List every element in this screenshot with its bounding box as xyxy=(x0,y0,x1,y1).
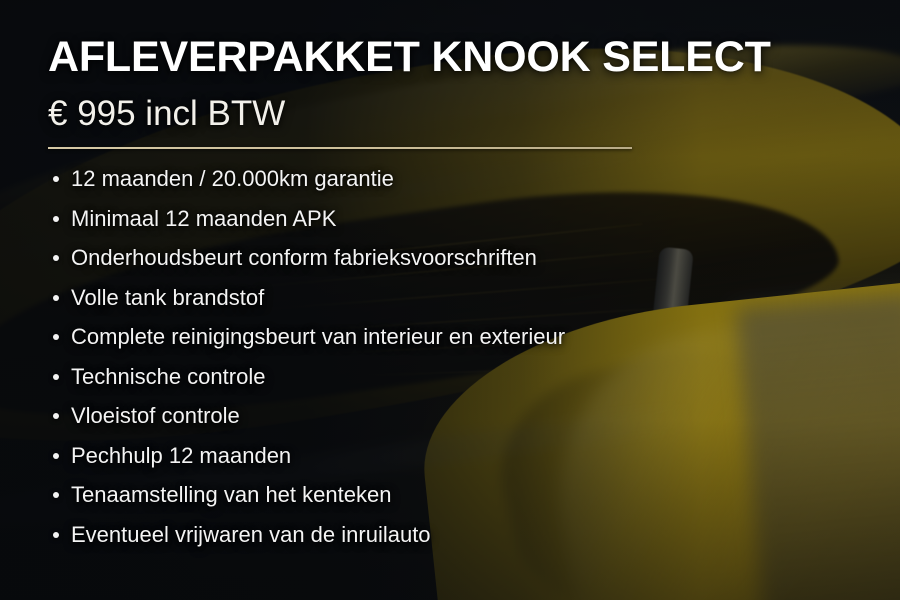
feature-list: 12 maanden / 20.000km garantie Minimaal … xyxy=(48,164,565,559)
bullet-dot-icon xyxy=(53,255,59,261)
bullet-dot-icon xyxy=(53,374,59,380)
list-item: Volle tank brandstof xyxy=(48,283,565,323)
price-label: € 995 incl BTW xyxy=(48,94,285,134)
list-item: Minimaal 12 maanden APK xyxy=(48,204,565,244)
list-item-label: Pechhulp 12 maanden xyxy=(71,443,291,468)
list-item: Tenaamstelling van het kenteken xyxy=(48,480,565,520)
bullet-dot-icon xyxy=(53,216,59,222)
list-item-label: Volle tank brandstof xyxy=(71,285,264,310)
list-item-label: Eventueel vrijwaren van de inruilauto xyxy=(71,522,431,547)
list-item-label: Onderhoudsbeurt conform fabrieksvoorschr… xyxy=(71,245,537,270)
list-item: 12 maanden / 20.000km garantie xyxy=(48,164,565,204)
bullet-dot-icon xyxy=(53,334,59,340)
list-item: Pechhulp 12 maanden xyxy=(48,441,565,481)
list-item-label: Complete reinigingsbeurt van interieur e… xyxy=(71,324,565,349)
list-item-label: 12 maanden / 20.000km garantie xyxy=(71,166,394,191)
list-item: Onderhoudsbeurt conform fabrieksvoorschr… xyxy=(48,243,565,283)
bullet-dot-icon xyxy=(53,295,59,301)
list-item-label: Vloeistof controle xyxy=(71,403,240,428)
bullet-dot-icon xyxy=(53,176,59,182)
page-title: AFLEVERPAKKET KNOOK SELECT xyxy=(48,34,771,80)
list-item-label: Minimaal 12 maanden APK xyxy=(71,206,336,231)
bullet-dot-icon xyxy=(53,413,59,419)
promo-content: AFLEVERPAKKET KNOOK SELECT € 995 incl BT… xyxy=(48,0,868,600)
title-divider xyxy=(48,147,632,149)
delivery-package-promo-card: AFLEVERPAKKET KNOOK SELECT € 995 incl BT… xyxy=(0,0,900,600)
bullet-dot-icon xyxy=(53,453,59,459)
bullet-dot-icon xyxy=(53,492,59,498)
list-item-label: Technische controle xyxy=(71,364,265,389)
list-item: Complete reinigingsbeurt van interieur e… xyxy=(48,322,565,362)
list-item: Vloeistof controle xyxy=(48,401,565,441)
bullet-dot-icon xyxy=(53,532,59,538)
list-item-label: Tenaamstelling van het kenteken xyxy=(71,482,391,507)
list-item: Technische controle xyxy=(48,362,565,402)
list-item: Eventueel vrijwaren van de inruilauto xyxy=(48,520,565,560)
